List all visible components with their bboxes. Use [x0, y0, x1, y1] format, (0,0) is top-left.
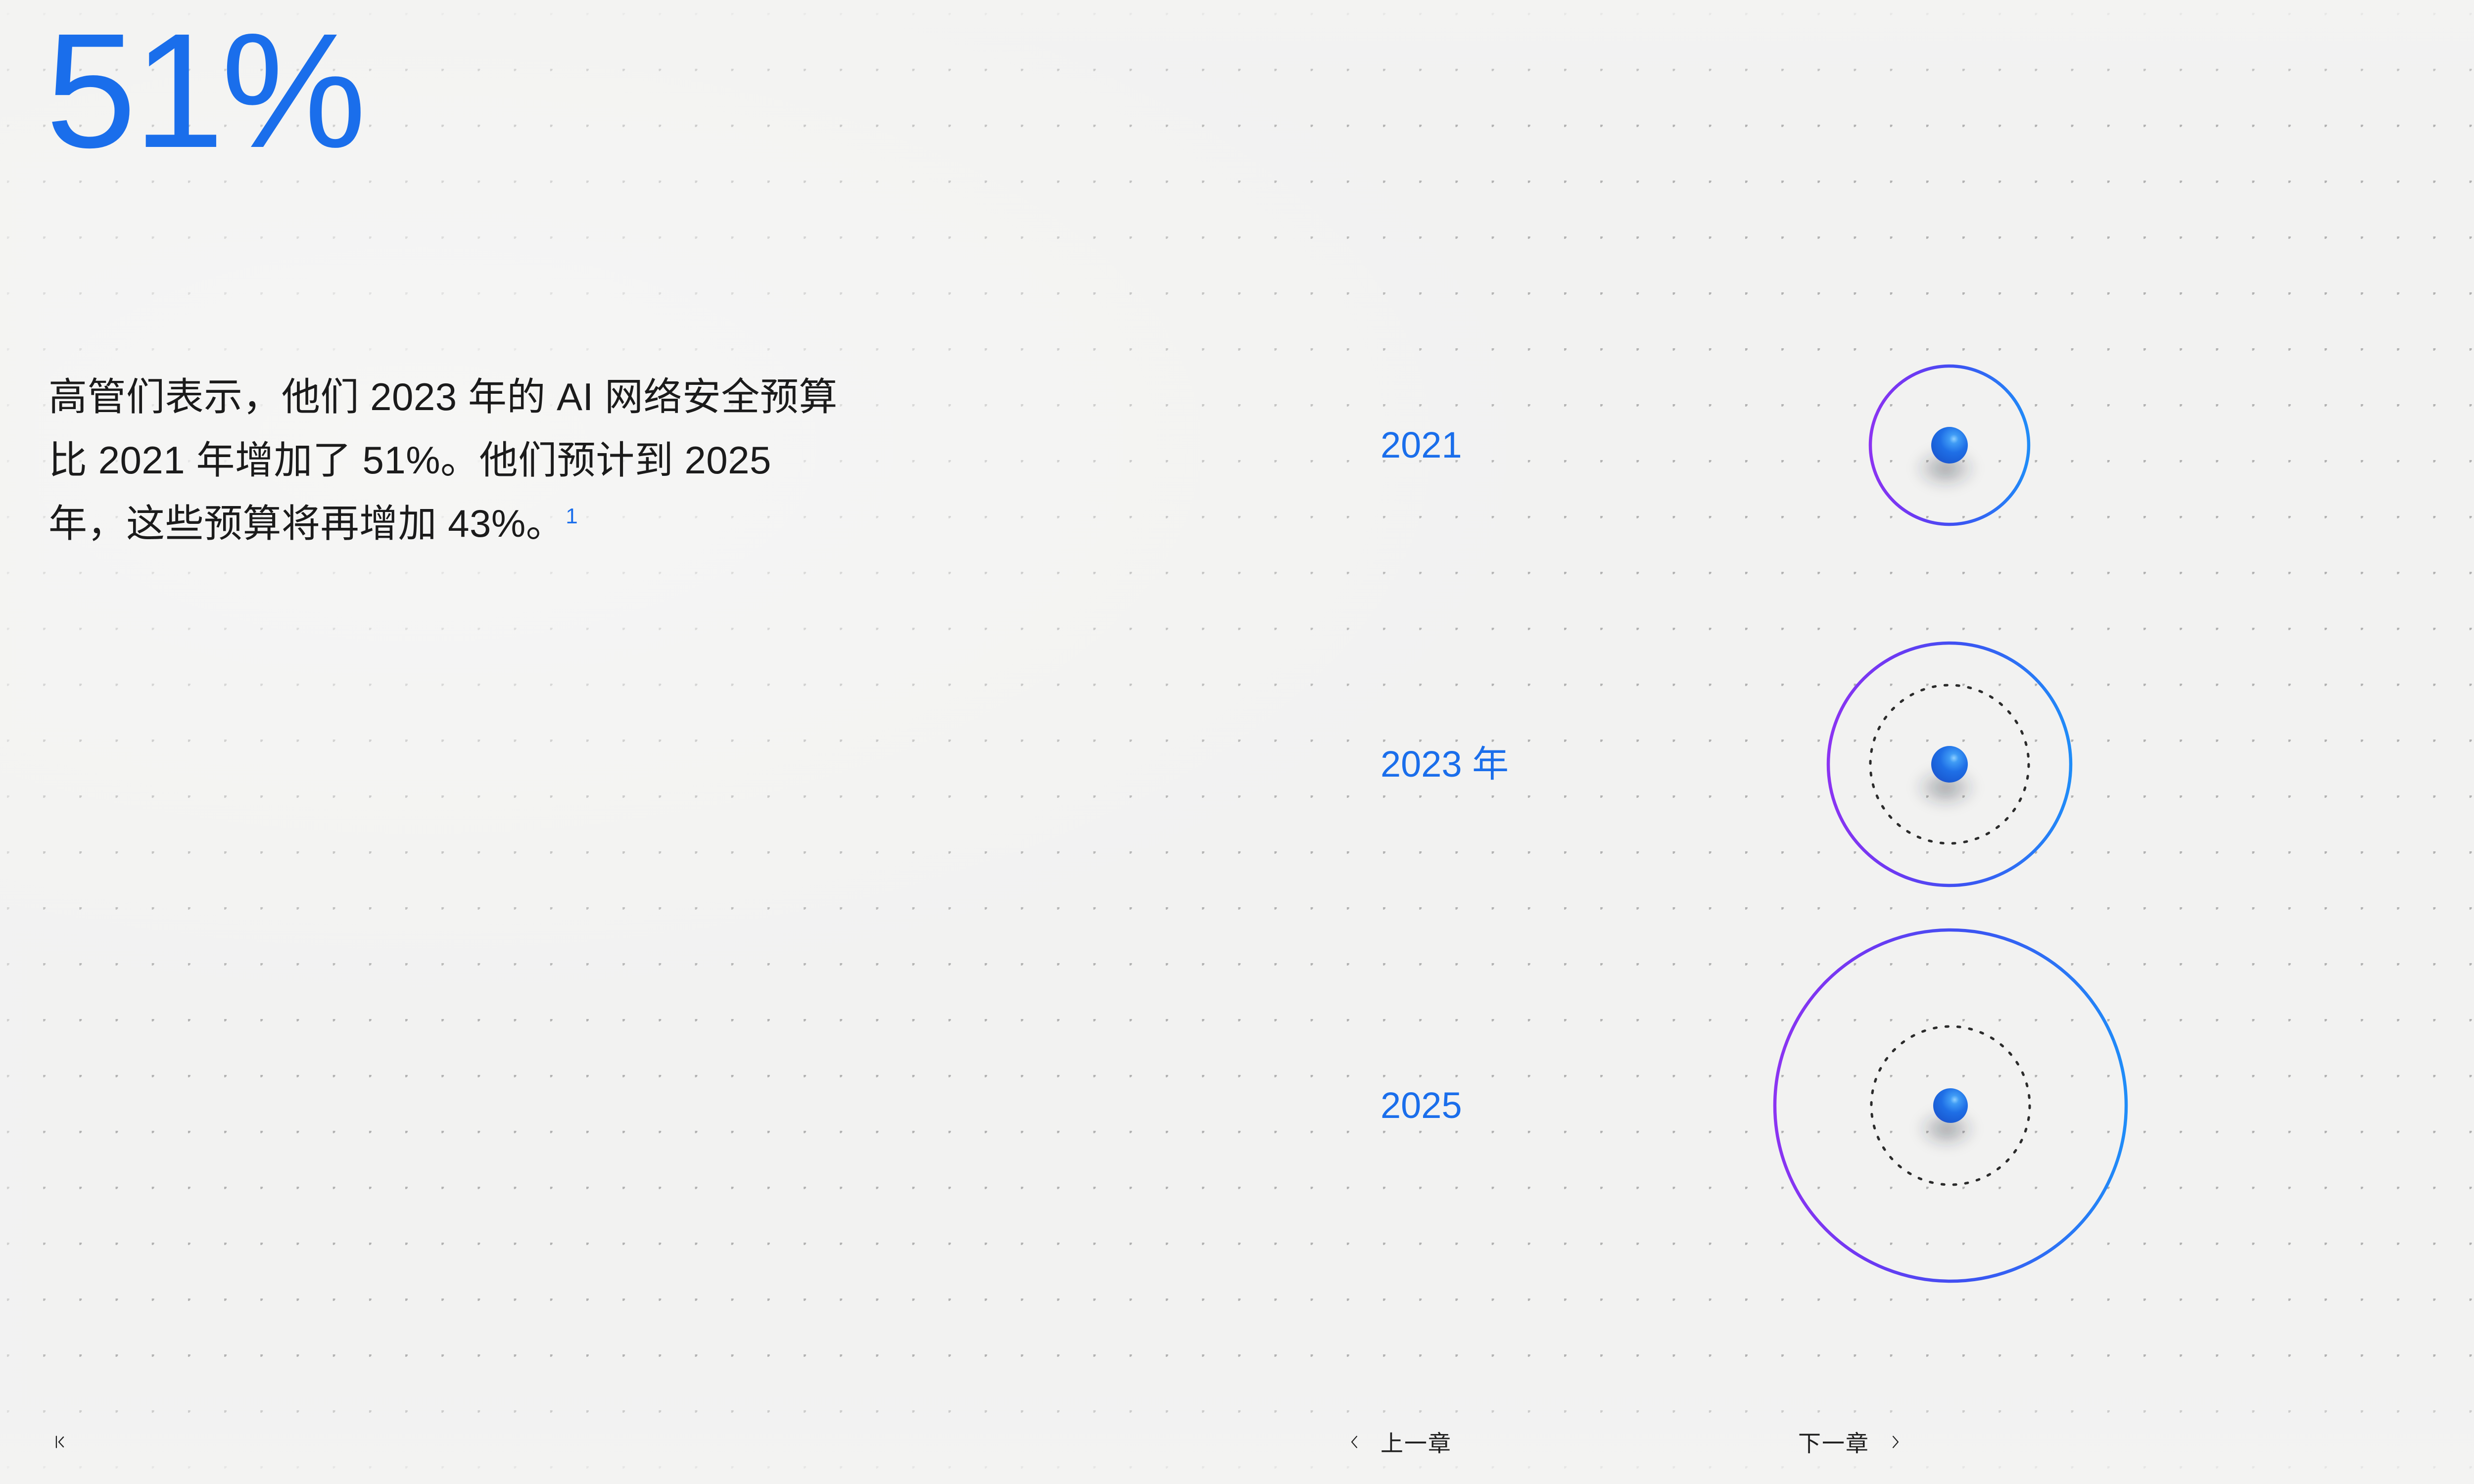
bubble-group-2021[interactable]	[1431, 366, 2029, 524]
bubble-marker-2023	[1931, 746, 1968, 783]
next-chapter-label: 下一章	[1798, 1426, 1869, 1458]
first-page-button[interactable]	[51, 1434, 68, 1450]
previous-chapter-label: 上一章	[1380, 1426, 1452, 1458]
bubble-label-2025[interactable]: 2025	[1380, 1087, 1462, 1124]
bubble-marker-2021	[1931, 427, 1968, 464]
bubble-chart	[0, 0, 2474, 1484]
chevron-left-icon	[1346, 1434, 1363, 1450]
bubble-label-2023[interactable]: 2023 年	[1380, 746, 1509, 783]
next-chapter-button[interactable]: 下一章	[1798, 1426, 1904, 1458]
footer-navigation-bar: 上一章 下一章 8	[0, 1400, 2474, 1484]
chevron-right-icon	[1887, 1434, 1904, 1450]
chapter-navigation: 上一章 下一章	[1346, 1426, 1904, 1458]
previous-chapter-button[interactable]: 上一章	[1346, 1426, 1452, 1458]
bubble-group-2023[interactable]	[1482, 643, 2071, 885]
bubble-marker-2025	[1933, 1088, 1968, 1123]
skip-to-start-icon	[51, 1434, 68, 1450]
bubble-group-2025[interactable]	[1431, 930, 2126, 1281]
slide-page: 51% 高管们表示，他们 2023 年的 AI 网络安全预算比 2021 年增加…	[0, 0, 2474, 1484]
bubble-label-2021[interactable]: 2021	[1380, 427, 1462, 464]
